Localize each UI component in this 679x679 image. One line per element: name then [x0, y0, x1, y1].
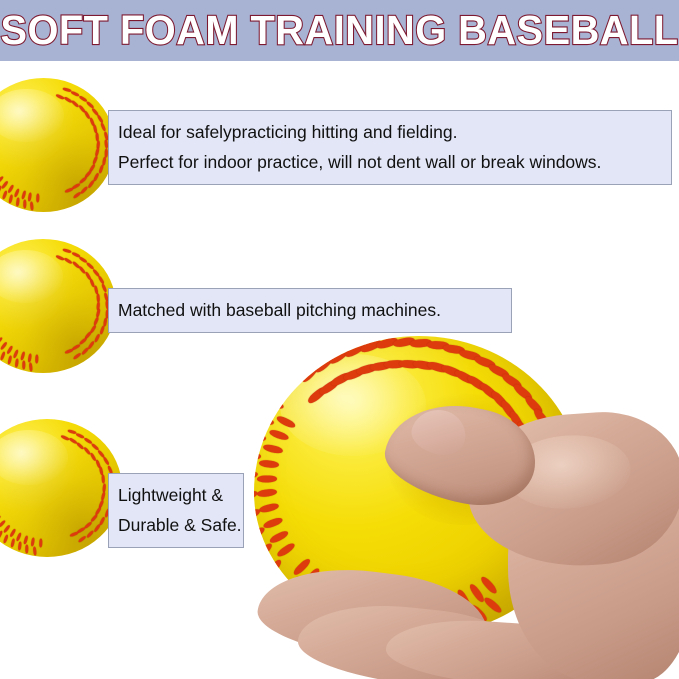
stitch-mark: [468, 582, 486, 603]
stitch-mark: [0, 530, 4, 540]
stitch-mark: [23, 535, 29, 545]
stitch-mark: [62, 87, 72, 93]
stitch-mark: [0, 337, 3, 346]
caption-pitching-machines: Matched with baseball pitching machines.: [108, 288, 512, 333]
caption-line: Ideal for safelypracticing hitting and f…: [118, 117, 662, 147]
stitch-mark: [0, 185, 2, 195]
stitch-mark: [101, 491, 107, 501]
ball-stitching: [0, 419, 122, 557]
stitch-mark: [80, 346, 89, 355]
stitch-mark: [3, 534, 9, 544]
stitch-mark: [93, 172, 100, 182]
stitch-mark: [102, 318, 107, 327]
stitch-mark: [64, 348, 74, 355]
stitch-mark: [254, 434, 266, 442]
stitch-mark: [101, 283, 108, 293]
stitch-mark: [254, 453, 261, 462]
stitch-mark: [440, 364, 463, 379]
stitch-mark: [71, 91, 81, 98]
caption-lightweight-durable-safe: Lightweight & Durable & Safe.: [108, 473, 244, 548]
hero-photo-hand-squeezing-ball: [236, 322, 679, 679]
stitch-mark: [102, 157, 107, 166]
stitch-mark: [16, 532, 23, 542]
stitch-mark: [96, 301, 100, 310]
stitch-mark: [36, 194, 40, 203]
stitch-mark: [0, 520, 6, 529]
stitch-mark: [254, 542, 273, 561]
stitch-mark: [101, 475, 105, 484]
ball-shading: [0, 419, 122, 557]
stitch-mark: [95, 309, 101, 319]
stitch-mark: [92, 124, 97, 134]
stitch-mark: [3, 525, 11, 534]
stitch-mark: [87, 179, 95, 188]
stitch-mark: [426, 361, 449, 374]
stitch-mark: [268, 428, 289, 441]
stitch-mark: [55, 93, 65, 100]
stitch-mark: [0, 176, 5, 185]
stitch-mark: [22, 361, 25, 370]
stitch-mark: [1, 180, 9, 189]
stitch-mark: [500, 372, 523, 390]
stitch-mark: [84, 110, 91, 119]
stitch-mark: [77, 526, 86, 534]
stitch-mark: [98, 467, 103, 477]
stitch-mark: [257, 489, 278, 498]
caption-line: Lightweight &: [118, 480, 234, 510]
stitch-mark: [523, 394, 544, 415]
stitch-mark: [78, 176, 87, 184]
stitch-mark: [14, 188, 21, 198]
stitch-mark: [262, 516, 283, 530]
stitch-mark: [89, 324, 97, 333]
stitch-mark: [265, 558, 283, 578]
stitch-mark: [76, 441, 85, 450]
ball-shading: [0, 78, 115, 212]
stitch-mark: [71, 99, 80, 108]
stitch-mark: [83, 446, 91, 455]
stitch-mark: [393, 336, 416, 347]
stitch-mark: [21, 190, 27, 200]
stitch-mark: [84, 437, 93, 445]
stitch-mark: [20, 351, 26, 361]
stitch-mark: [55, 254, 65, 261]
stitch-mark: [71, 182, 80, 190]
stitch-mark: [8, 194, 13, 204]
stitch-mark: [95, 132, 99, 141]
stitch-mark: [29, 362, 33, 371]
stitch-mark: [479, 575, 498, 595]
stitch-mark: [262, 444, 283, 455]
stitch-mark: [30, 201, 34, 210]
stitch-mark: [254, 415, 274, 426]
stitch-mark: [94, 506, 102, 515]
stitch-mark: [63, 257, 72, 265]
stitch-mark: [91, 107, 99, 116]
stitch-mark: [254, 507, 261, 522]
stitch-mark: [33, 546, 37, 555]
stitch-mark: [84, 271, 91, 280]
stitch-mark: [69, 531, 79, 538]
stitch-mark: [410, 338, 433, 347]
stitch-mark: [26, 544, 29, 553]
stitch-mark: [86, 262, 95, 270]
stitch-mark: [72, 343, 81, 351]
ball-shading: [0, 239, 116, 373]
stitch-mark: [0, 515, 2, 523]
stitch-mark: [28, 192, 33, 201]
stitch-mark: [97, 449, 105, 458]
stitch-mark: [10, 538, 15, 548]
stitch-mark: [18, 542, 22, 551]
stitch-mark: [89, 514, 97, 523]
stitch-mark: [102, 457, 110, 466]
stitch-mark: [254, 471, 258, 482]
stitch-mark: [84, 331, 92, 340]
stitch-mark: [89, 117, 95, 127]
foam-baseball-thumbnail-2: [0, 239, 116, 373]
stitch-mark: [6, 345, 13, 354]
stitch-mark: [102, 483, 106, 492]
stitch-mark: [443, 344, 466, 355]
stitch-mark: [72, 191, 81, 199]
stitch-mark: [259, 459, 280, 468]
stitch-mark: [23, 200, 26, 209]
stitch-mark: [92, 268, 100, 277]
stitch-mark: [453, 368, 476, 385]
ball-stitching: [0, 239, 116, 373]
stitch-mark: [63, 96, 72, 104]
stitch-mark: [466, 374, 488, 393]
stitch-mark: [93, 316, 100, 326]
stitch-mark: [67, 429, 77, 435]
stitch-mark: [96, 293, 100, 302]
stitch-mark: [427, 341, 449, 349]
stitch-mark: [7, 355, 12, 365]
stitch-mark: [77, 535, 86, 543]
stitch-mark: [100, 122, 107, 132]
stitch-mark: [0, 171, 1, 179]
stitch-mark: [78, 104, 86, 113]
stitch-mark: [92, 155, 99, 165]
stitch-mark: [13, 349, 20, 359]
stitch-mark: [27, 353, 32, 362]
ball-stitching: [0, 78, 115, 212]
stitch-mark: [97, 275, 105, 284]
stitch-mark: [7, 184, 14, 193]
stitch-mark: [9, 529, 16, 538]
stitch-mark: [64, 187, 74, 194]
stitch-mark: [78, 337, 87, 345]
stitch-mark: [71, 252, 81, 259]
stitch-mark: [99, 516, 106, 526]
stitch-mark: [96, 114, 104, 123]
stitch-mark: [93, 523, 101, 532]
stitch-mark: [88, 163, 96, 172]
caption-line: Perfect for indoor practice, will not de…: [118, 147, 662, 177]
stitch-mark: [31, 537, 36, 546]
stitch-mark: [79, 256, 88, 264]
stitch-mark: [482, 596, 503, 615]
stitch-mark: [71, 260, 80, 269]
caption-line: Durable & Safe.: [118, 510, 234, 540]
foam-baseball-thumbnail-3: [0, 419, 122, 557]
stitch-mark: [487, 363, 510, 380]
stitch-mark: [1, 190, 7, 200]
stitch-mark: [89, 278, 95, 288]
stitch-mark: [80, 185, 89, 194]
stitch-mark: [458, 349, 481, 362]
stitch-mark: [62, 248, 72, 254]
caption-line: Matched with baseball pitching machines.: [118, 295, 502, 325]
stitch-mark: [60, 435, 70, 442]
stitch-mark: [84, 170, 92, 179]
stitch-mark: [98, 499, 105, 509]
product-infographic: SOFT FOAM TRAINING BASEBALL: [0, 0, 679, 679]
stitch-mark: [0, 341, 8, 350]
stitch-mark: [94, 148, 100, 158]
stitch-mark: [268, 529, 289, 544]
stitch-mark: [93, 333, 100, 343]
stitch-mark: [0, 351, 6, 361]
foam-baseball-thumbnail-1: [0, 78, 115, 212]
caption-ideal-for-safe-practice: Ideal for safelypracticing hitting and f…: [108, 110, 672, 185]
stitch-mark: [98, 165, 104, 175]
stitch-mark: [257, 475, 277, 482]
stitch-mark: [72, 352, 81, 360]
stitch-mark: [87, 340, 95, 349]
stitch-mark: [68, 437, 77, 445]
stitch-mark: [254, 525, 266, 542]
stitch-mark: [39, 538, 43, 547]
stitch-mark: [85, 530, 94, 539]
stitch-mark: [98, 326, 104, 336]
stitch-mark: [85, 101, 94, 109]
page-title: SOFT FOAM TRAINING BASEBALL: [10, 0, 669, 61]
stitch-mark: [83, 520, 92, 528]
stitch-mark: [276, 542, 296, 559]
stitch-mark: [91, 442, 100, 450]
stitch-mark: [259, 502, 280, 514]
stitch-mark: [94, 459, 100, 469]
stitch-mark: [512, 382, 534, 402]
stitch-mark: [89, 452, 96, 461]
stitch-mark: [254, 489, 258, 502]
stitch-mark: [78, 265, 86, 274]
stitch-mark: [15, 197, 19, 206]
stitch-mark: [93, 285, 98, 295]
stitch-mark: [359, 338, 382, 354]
stitch-mark: [376, 336, 399, 350]
stitch-mark: [76, 432, 86, 439]
stitch-mark: [14, 358, 18, 367]
stitch-mark: [473, 355, 496, 370]
stitch-mark: [412, 359, 435, 370]
stitch-mark: [78, 95, 87, 103]
stitch-mark: [0, 346, 1, 356]
stitch-mark: [96, 140, 100, 149]
stitch-mark: [35, 355, 39, 364]
